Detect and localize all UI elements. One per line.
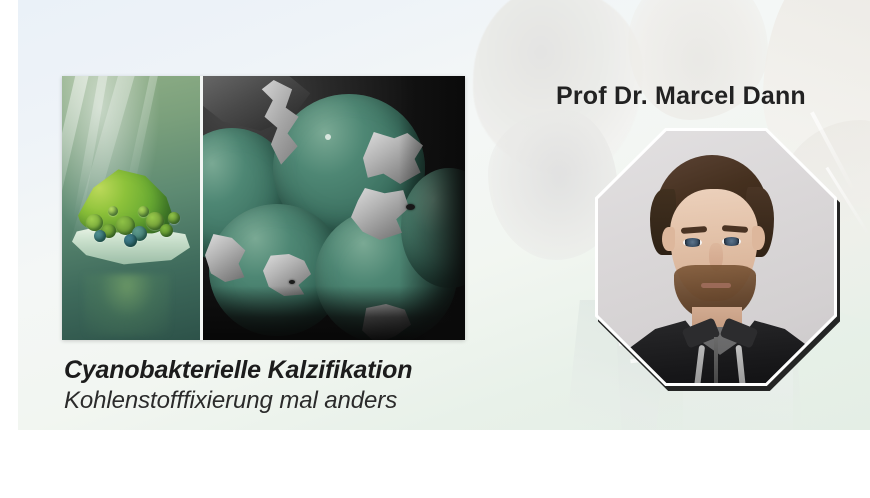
- mouth: [701, 283, 731, 288]
- water-reflection: [84, 274, 170, 336]
- page-title: Cyanobakterielle Kalzifikation: [64, 356, 412, 384]
- eye: [722, 237, 741, 246]
- speaker-name: Prof Dr. Marcel Dann: [556, 82, 806, 111]
- cyanobacteria-colony-photo: [62, 76, 200, 340]
- image-pair-block: [62, 76, 465, 340]
- page-subtitle: Kohlenstofffixierung mal anders: [64, 387, 412, 416]
- colony-cluster: [72, 168, 190, 273]
- surface-pore: [289, 280, 295, 284]
- speaker-portrait-frame: [595, 128, 837, 386]
- colony-nodule: [124, 234, 137, 247]
- colony-nodule: [86, 214, 103, 231]
- colony-nodule: [108, 206, 118, 216]
- sem-vignette: [399, 76, 465, 340]
- ear: [662, 227, 675, 251]
- eye: [683, 238, 702, 247]
- slide-bottom-margin: [0, 430, 870, 498]
- surface-highlight: [325, 134, 331, 140]
- colony-nodule: [168, 212, 180, 224]
- ear: [752, 226, 765, 250]
- hoodie-zipper: [714, 337, 718, 383]
- sem-micrograph-photo: [200, 76, 465, 340]
- colony-nodule: [138, 206, 149, 217]
- colony-nodule: [94, 230, 106, 242]
- presentation-slide: Cyanobakterielle Kalzifikation Kohlensto…: [18, 0, 870, 430]
- title-group: Cyanobakterielle Kalzifikation Kohlensto…: [64, 356, 412, 416]
- colony-nodule: [160, 224, 173, 237]
- slide-left-margin: [0, 0, 18, 498]
- avatar: [598, 131, 834, 383]
